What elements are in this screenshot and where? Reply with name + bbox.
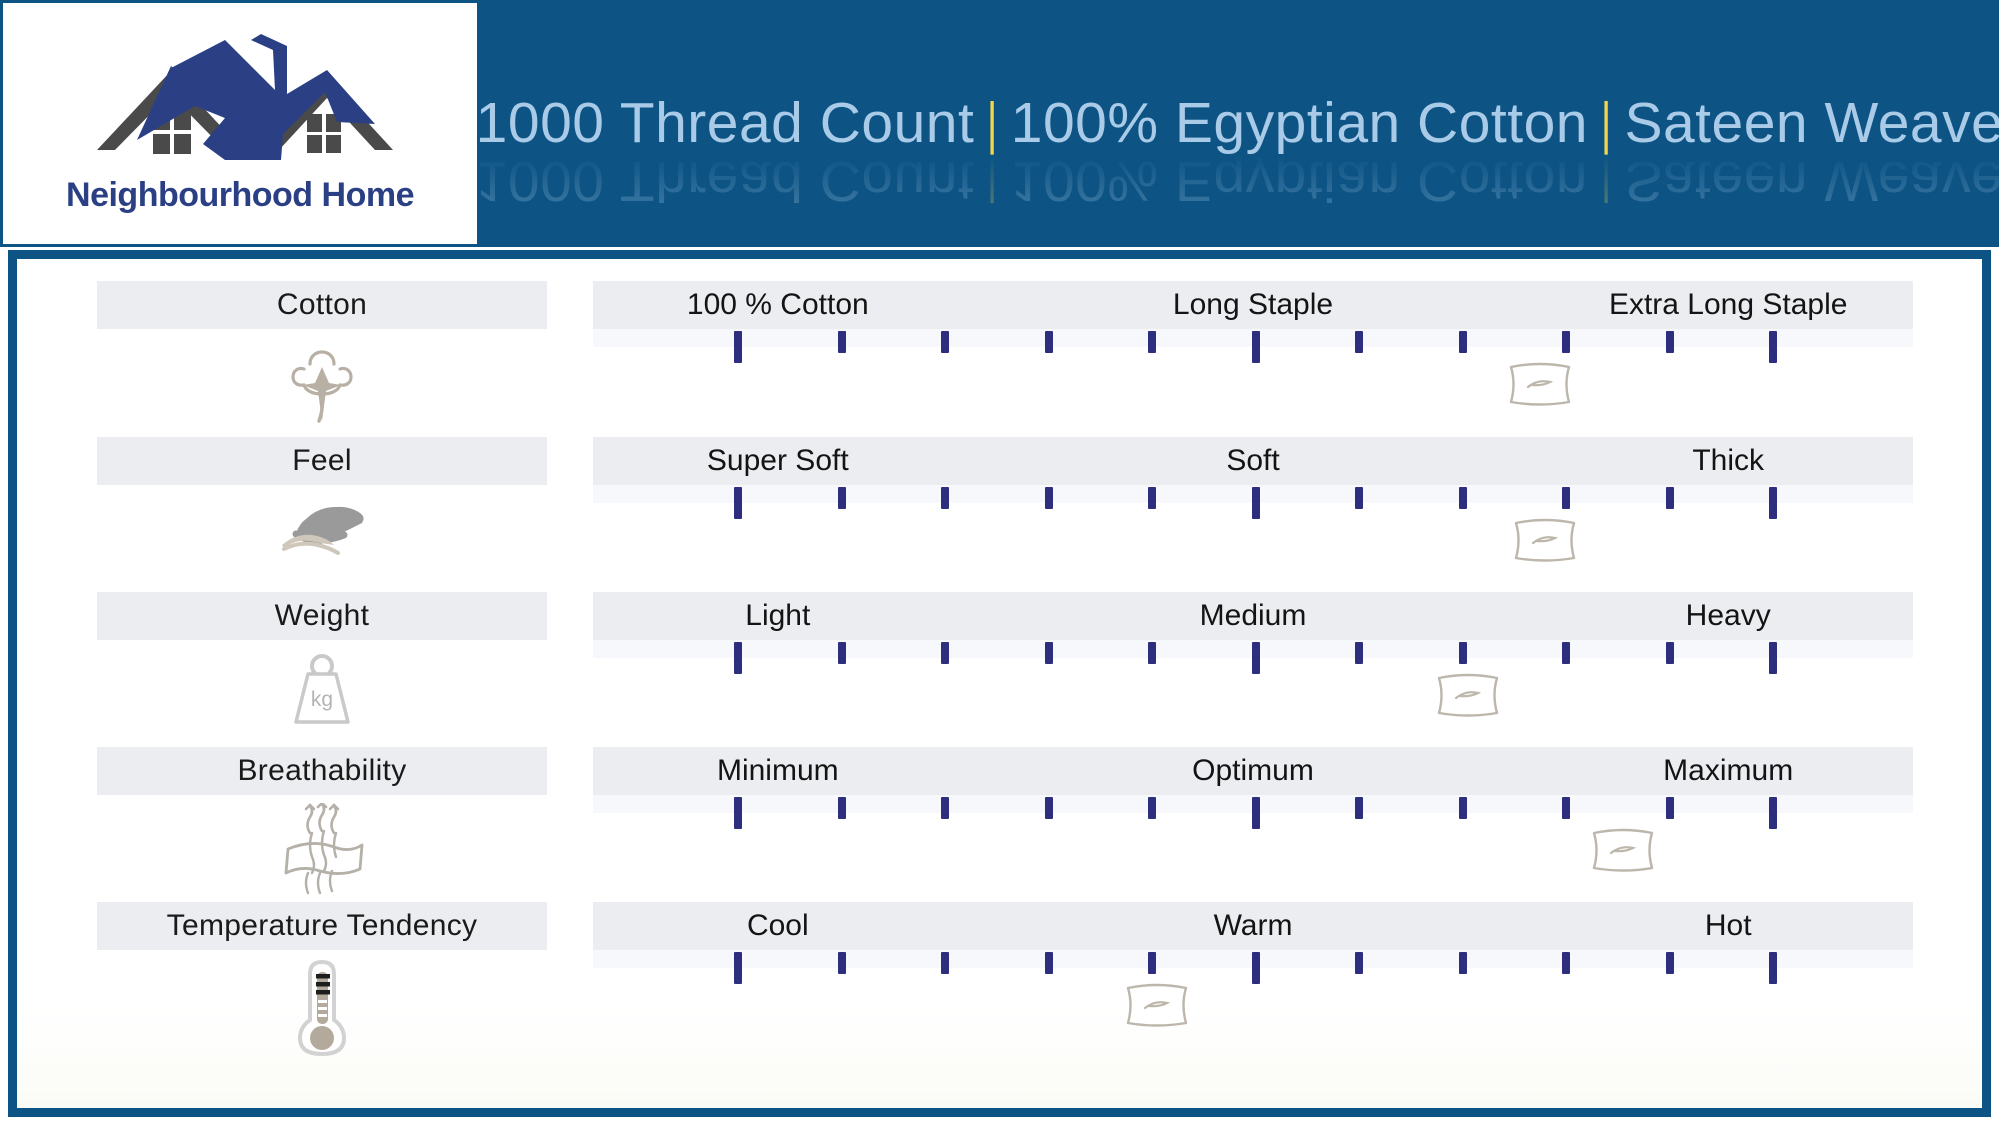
scale-tick	[1045, 331, 1053, 353]
scale-label-right: Maximum	[1663, 747, 1793, 795]
attribute-band: Breathability	[97, 747, 547, 795]
reflection-part-2: 100% Egyptian Cotton	[1011, 149, 1588, 213]
spec-row-feel: Feel Super Soft Soft Thick	[17, 437, 1982, 594]
scale-tick	[1769, 487, 1777, 519]
scale-tick	[941, 487, 949, 509]
scale-tick	[838, 642, 846, 664]
scale-band: Cool Warm Hot	[593, 902, 1913, 950]
title-reflection: 1000 Thread Count|100% Egyptian Cotton|S…	[476, 152, 1999, 209]
attribute-band: Feel	[97, 437, 547, 485]
scale-band: Super Soft Soft Thick	[593, 437, 1913, 485]
scale-label-middle: Warm	[1214, 902, 1293, 950]
attribute-band: Weight	[97, 592, 547, 640]
scale-tick	[1562, 797, 1570, 819]
scale-tick	[838, 952, 846, 974]
scale-tick	[1355, 952, 1363, 974]
scale-tick	[1148, 331, 1156, 353]
scale-label-left: Cool	[747, 902, 809, 950]
scale-tick	[1666, 487, 1674, 509]
scale-tick	[941, 797, 949, 819]
house-logo-icon	[75, 32, 405, 182]
scale-tick	[1252, 797, 1260, 829]
scale-tick	[941, 952, 949, 974]
scale-tick	[734, 797, 742, 829]
scale-tick	[1045, 952, 1053, 974]
pillow-marker[interactable]	[1123, 980, 1191, 1030]
scale-tick	[1148, 952, 1156, 974]
scale-tick	[1355, 797, 1363, 819]
header-title-wrap: 1000 Thread Count|100% Egyptian Cotton|S…	[480, 0, 1999, 247]
scale-label-left: Super Soft	[707, 437, 849, 485]
scale-label-left: 100 % Cotton	[687, 281, 869, 329]
pillow-marker[interactable]	[1506, 359, 1574, 409]
scale-tick	[1045, 642, 1053, 664]
scale-tick	[1148, 487, 1156, 509]
attribute-label: Weight	[275, 599, 370, 633]
scale-tick	[1459, 797, 1467, 819]
attribute-band: Temperature Tendency	[97, 902, 547, 950]
brand-logo: Neighbourhood Home	[0, 0, 480, 247]
pillow-marker[interactable]	[1511, 515, 1579, 565]
attribute-label: Feel	[292, 444, 352, 478]
scale-label-right: Extra Long Staple	[1609, 281, 1848, 329]
title-separator-2: |	[1603, 95, 1610, 152]
scale-label-right: Heavy	[1686, 592, 1771, 640]
title-part-1: 1000 Thread Count	[476, 91, 975, 155]
hand-fabric-icon	[97, 489, 547, 589]
scale-tick	[1459, 642, 1467, 664]
scale-tick	[1666, 952, 1674, 974]
scale-tick	[1252, 642, 1260, 674]
title-part-2: 100% Egyptian Cotton	[1011, 91, 1588, 155]
spec-row-breathability: Breathability	[17, 747, 1982, 904]
scale-tick	[941, 331, 949, 353]
scale-label-right: Thick	[1692, 437, 1764, 485]
thermometer-icon	[97, 954, 547, 1054]
scale-tick	[1355, 331, 1363, 353]
scale-tick	[734, 487, 742, 519]
scale-label-left: Minimum	[717, 747, 839, 795]
attribute-label: Temperature Tendency	[167, 909, 478, 943]
scale-tick	[1562, 331, 1570, 353]
scale-tick	[734, 642, 742, 674]
scale-tick	[838, 487, 846, 509]
scale-tick	[734, 952, 742, 984]
header-banner: Neighbourhood Home 1000 Thread Count|100…	[0, 0, 1999, 247]
attribute-label: Breathability	[238, 754, 407, 788]
reflection-part-1: 1000 Thread Count	[476, 149, 975, 213]
scale-label-middle: Long Staple	[1173, 281, 1333, 329]
spec-panel-inner: Cotton 100 % Cotton Long Staple E	[17, 259, 1982, 1108]
scale-tick	[1562, 487, 1570, 509]
scale-tick	[1252, 331, 1260, 363]
scale-tick	[1045, 797, 1053, 819]
scale-tick	[1769, 331, 1777, 363]
spec-row-temperature: Temperature Tendency	[17, 902, 1982, 1059]
reflection-separator-2: |	[1603, 152, 1610, 209]
scale-label-middle: Soft	[1226, 437, 1279, 485]
svg-text:kg: kg	[311, 688, 333, 711]
scale-tick	[1252, 487, 1260, 519]
scale-tick	[734, 331, 742, 363]
attribute-label: Cotton	[277, 288, 367, 322]
scale-label-left: Light	[745, 592, 810, 640]
scale-tick	[1355, 487, 1363, 509]
attribute-band: Cotton	[97, 281, 547, 329]
reflection-separator-1: |	[989, 152, 996, 209]
scale-tick	[1562, 952, 1570, 974]
scale-tick	[1252, 952, 1260, 984]
scale-tick	[1666, 642, 1674, 664]
title-part-3: Sateen Weave	[1624, 91, 1999, 155]
spec-panel: Cotton 100 % Cotton Long Staple E	[8, 250, 1991, 1117]
scale-band: Light Medium Heavy	[593, 592, 1913, 640]
scale-label-right: Hot	[1705, 902, 1752, 950]
scale-tick	[838, 797, 846, 819]
kg-weight-icon: kg	[97, 644, 547, 744]
scale-tick	[1355, 642, 1363, 664]
scale-tick	[1459, 952, 1467, 974]
scale-tick	[1148, 797, 1156, 819]
spec-row-cotton: Cotton 100 % Cotton Long Staple E	[17, 281, 1982, 438]
scale-tick	[838, 331, 846, 353]
scale-tick	[1459, 487, 1467, 509]
scale-label-middle: Medium	[1200, 592, 1307, 640]
scale-tick	[1769, 642, 1777, 674]
page-title: 1000 Thread Count|100% Egyptian Cotton|S…	[476, 95, 1999, 152]
reflection-part-3: Sateen Weave	[1624, 149, 1999, 213]
scale-tick	[1666, 797, 1674, 819]
pillow-marker[interactable]	[1434, 670, 1502, 720]
scale-tick	[1769, 797, 1777, 829]
scale-tick	[1045, 487, 1053, 509]
scale-tick	[1148, 642, 1156, 664]
breathable-fabric-icon	[97, 799, 547, 899]
scale-tick	[1562, 642, 1570, 664]
spec-row-weight: Weight kg Light Medium Heavy	[17, 592, 1982, 749]
scale-tick	[1769, 952, 1777, 984]
scale-tick	[941, 642, 949, 664]
scale-tick	[1666, 331, 1674, 353]
title-separator-1: |	[989, 95, 996, 152]
scale-label-middle: Optimum	[1192, 747, 1314, 795]
pillow-marker[interactable]	[1589, 825, 1657, 875]
scale-band: Minimum Optimum Maximum	[593, 747, 1913, 795]
cotton-boll-icon	[97, 333, 547, 433]
brand-wordmark: Neighbourhood Home	[66, 176, 414, 215]
scale-tick	[1459, 331, 1467, 353]
scale-band: 100 % Cotton Long Staple Extra Long Stap…	[593, 281, 1913, 329]
